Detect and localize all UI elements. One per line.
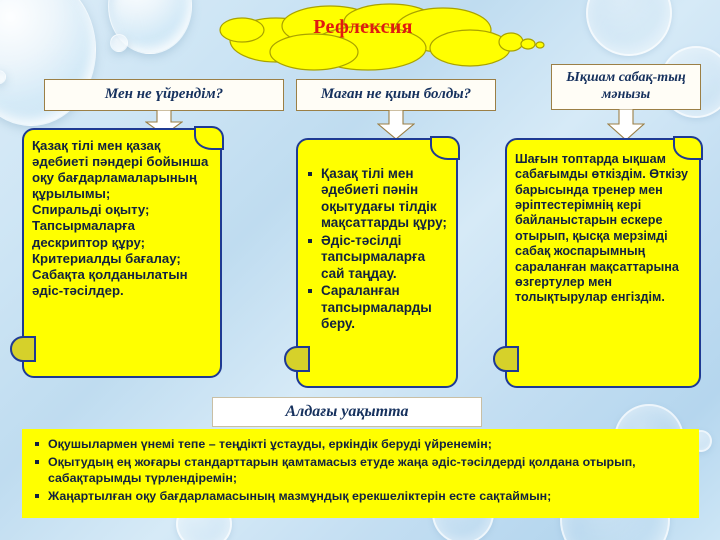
- header-label: Маған не қиын болды?: [321, 86, 471, 104]
- list-item: Әдіс-тәсілді тапсырмаларға сай таңдау.: [306, 233, 450, 282]
- water-drop-icon: [110, 34, 128, 52]
- bullet-list: Оқушылармен үнемі тепе – теңдікті ұстауд…: [32, 437, 689, 505]
- bubble-ring-icon: [586, 0, 672, 56]
- arrow-down-icon: [607, 109, 645, 141]
- text-line: Шағын топтарда ықшам сабағымды өткіздім.…: [515, 152, 693, 306]
- text-line: Сабақта қолданылатын әдіс-тәсілдер.: [32, 267, 214, 299]
- water-drop-icon: [108, 0, 192, 54]
- list-item: Оқытудың ең жоғары стандарттарын қамтама…: [32, 455, 689, 487]
- list-item: Оқушылармен үнемі тепе – теңдікті ұстауд…: [32, 437, 689, 453]
- page-title: Рефлексия: [218, 16, 508, 39]
- text-line: Қазақ тілі мен қазақ әдебиеті пәндері бо…: [32, 138, 214, 202]
- header-microteaching-value: Ықшам сабақ-тың мәнызы: [551, 64, 701, 110]
- text-line: Спиральді оқыту;: [32, 202, 214, 218]
- panel-next-steps: Оқушылармен үнемі тепе – теңдікті ұстауд…: [22, 429, 699, 518]
- list-item: Жаңартылған оқу бағдарламасының мазмұнды…: [32, 489, 689, 505]
- water-drop-icon: [0, 70, 6, 84]
- text-line: Критериалды бағалау;: [32, 251, 214, 267]
- panel-microteaching-value: Шағын топтарда ықшам сабағымды өткіздім.…: [505, 138, 701, 388]
- header-label: Алдағы уақытта: [285, 403, 408, 421]
- header-what-was-difficult: Маған не қиын болды?: [296, 79, 496, 111]
- arrow-down-icon: [377, 110, 415, 140]
- title-thought-bubble: Рефлексия: [218, 2, 548, 72]
- list-item: Сараланған тапсырмаларды беру.: [306, 283, 450, 332]
- header-what-i-learned: Мен не үйрендім?: [44, 79, 284, 111]
- panel-what-was-difficult: Қазақ тілі мен әдебиеті пәнін оқытудағы …: [296, 138, 458, 388]
- panel-body: Шағын топтарда ықшам сабағымды өткіздім.…: [505, 138, 701, 388]
- text-line: Тапсырмаларға дескриптор құру;: [32, 218, 214, 250]
- header-next-steps: Алдағы уақытта: [212, 397, 482, 427]
- panel-body: Қазақ тілі мен әдебиеті пәнін оқытудағы …: [296, 138, 458, 388]
- header-label: Ықшам сабақ-тың мәнызы: [552, 70, 700, 103]
- panel-body: Қазақ тілі мен қазақ әдебиеті пәндері бо…: [22, 128, 222, 378]
- panel-what-i-learned: Қазақ тілі мен қазақ әдебиеті пәндері бо…: [22, 128, 222, 378]
- list-item: Қазақ тілі мен әдебиеті пәнін оқытудағы …: [306, 166, 450, 232]
- header-label: Мен не үйрендім?: [105, 86, 223, 104]
- bullet-list: Қазақ тілі мен әдебиеті пәнін оқытудағы …: [306, 166, 450, 333]
